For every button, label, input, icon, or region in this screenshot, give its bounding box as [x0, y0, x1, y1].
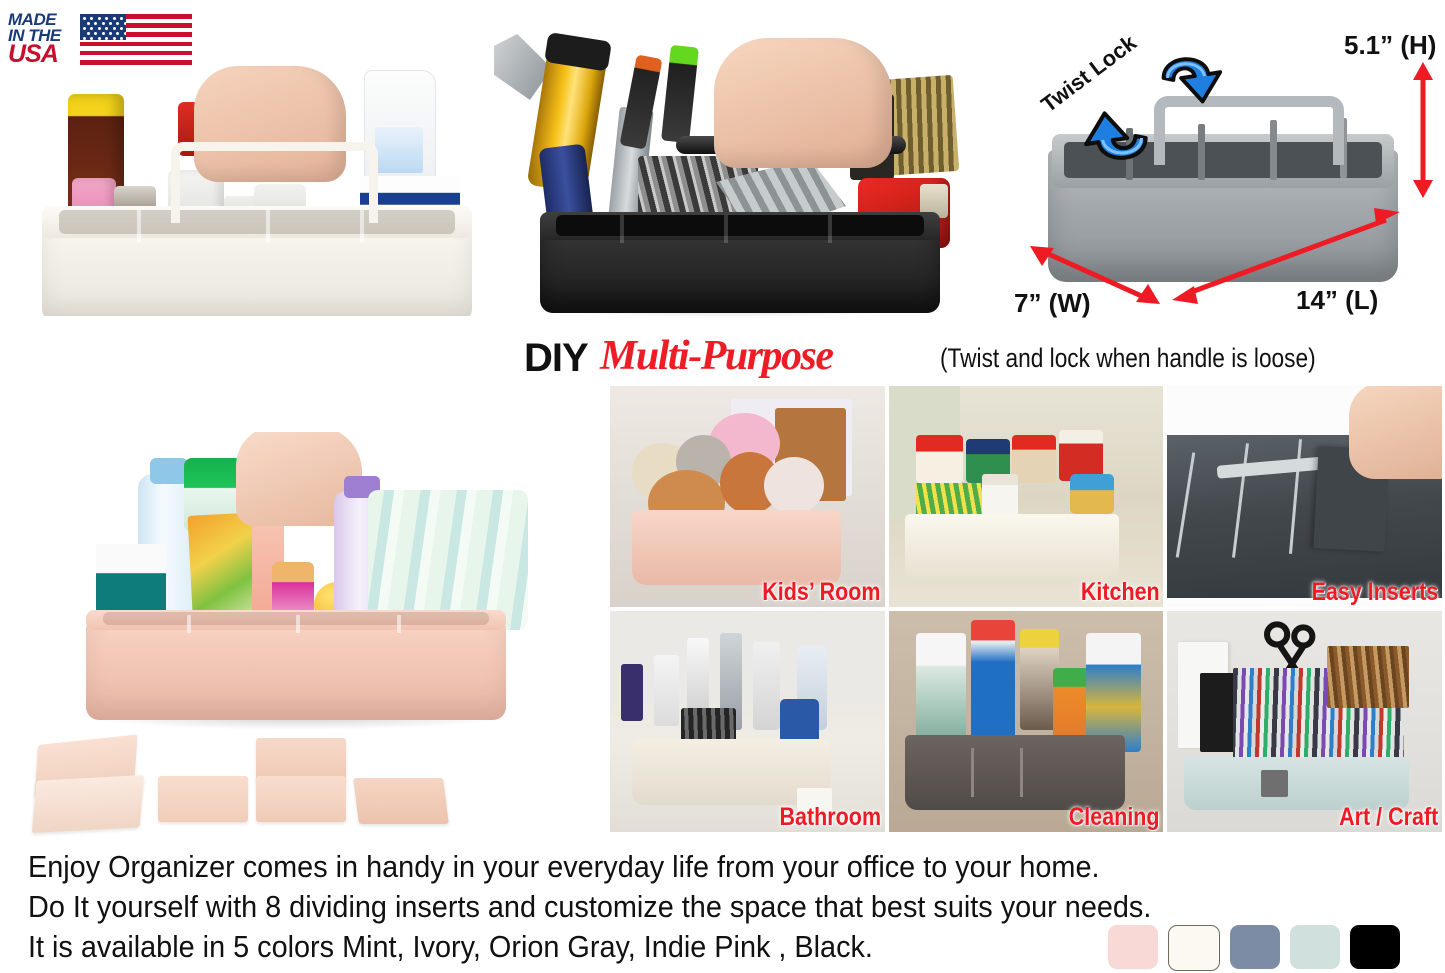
- usecase-kids-room[interactable]: Kids’ Room: [610, 386, 885, 607]
- caddy-handle-base: [1261, 770, 1288, 797]
- spice-jar: [1012, 435, 1056, 484]
- color-swatches: [1108, 925, 1400, 971]
- usecase-kitchen[interactable]: Kitchen: [889, 386, 1164, 607]
- spice-jar: [916, 435, 963, 484]
- black-caddy-tools-photo: [488, 28, 968, 318]
- usa-flag-icon: [80, 14, 192, 64]
- swatch-indie-pink[interactable]: [1108, 925, 1158, 969]
- swatch-ivory[interactable]: [1168, 925, 1220, 971]
- headline-diy: DIY: [524, 336, 588, 381]
- plush-toy: [764, 457, 824, 514]
- dimension-diagram: Twist Lock 5.1” (H) 7” (W) 14” (L): [1000, 0, 1445, 330]
- divider-insert: [32, 775, 144, 833]
- hand-inserting-divider: [1349, 386, 1442, 479]
- swatch-orion-gray[interactable]: [1230, 925, 1280, 969]
- usecase-label: Cleaning: [1069, 803, 1160, 832]
- headline-multi-purpose: Multi-Purpose: [600, 332, 833, 380]
- pink-caddy: [86, 592, 506, 720]
- green-marker: [661, 45, 699, 143]
- usecase-bathroom[interactable]: Bathroom: [610, 611, 885, 832]
- caddy: [632, 510, 841, 585]
- colored-pencils: [1327, 646, 1409, 708]
- white-caddy: [42, 122, 472, 316]
- usecase-label: Bathroom: [779, 803, 881, 832]
- caddy: [905, 514, 1119, 580]
- black-caddy: [540, 138, 940, 313]
- twist-lock-arrow-up: [1080, 94, 1162, 178]
- toiletry-bottle: [621, 664, 643, 721]
- pink-caddy-baby-photo: [38, 432, 558, 732]
- divider-insert: [158, 776, 248, 822]
- mirror: [610, 611, 885, 704]
- caddy: [905, 735, 1125, 810]
- usecase-label: Kids’ Room: [762, 578, 880, 607]
- clorox-bottle: [971, 620, 1015, 744]
- description-line-1: Enjoy Organizer comes in handy in your e…: [28, 849, 1099, 885]
- orange-marker: [619, 54, 662, 149]
- twist-and-lock-note: (Twist and lock when handle is loose): [940, 343, 1316, 374]
- usecase-cleaning[interactable]: Cleaning: [889, 611, 1164, 832]
- caddy-divider: [1020, 748, 1023, 797]
- width-arrow: [1030, 244, 1160, 311]
- length-arrow: [1172, 208, 1400, 309]
- blue-soap-dispenser: [780, 699, 818, 743]
- usecase-art-craft[interactable]: Art / Craft: [1167, 611, 1442, 832]
- usecase-label: Kitchen: [1080, 578, 1159, 607]
- condiment-jar: [1070, 474, 1114, 514]
- usecase-label: Art / Craft: [1339, 803, 1438, 832]
- spice-jar: [1059, 430, 1103, 481]
- swatch-mint[interactable]: [1290, 925, 1340, 969]
- use-case-grid: Kids’ Room Kitchen Easy Insert: [610, 386, 1442, 832]
- flag-canton: [80, 14, 126, 40]
- divider-insert: [256, 776, 346, 822]
- divider-insert: [353, 778, 449, 824]
- usecase-label: Easy Inserts: [1311, 578, 1438, 607]
- toiletry-bottle: [654, 655, 679, 726]
- description-line-3: It is available in 5 colors Mint, Ivory,…: [28, 929, 873, 965]
- caddy-divider: [971, 748, 974, 797]
- made-in-usa-badge: MADE IN THE USA: [8, 8, 193, 70]
- spray-bottle: [916, 633, 965, 748]
- height-arrow: [1412, 62, 1434, 203]
- product-infographic: MADE IN THE USA: [0, 0, 1445, 973]
- swatch-black[interactable]: [1350, 925, 1400, 969]
- soap-bottle: [753, 642, 780, 730]
- white-caddy-medicine-photo: [28, 66, 483, 316]
- height-label: 5.1” (H): [1344, 30, 1436, 61]
- usecase-easy-inserts[interactable]: Easy Inserts: [1167, 386, 1442, 607]
- description-line-2: Do It yourself with 8 dividing inserts a…: [28, 889, 1151, 925]
- caddy: [1184, 757, 1409, 810]
